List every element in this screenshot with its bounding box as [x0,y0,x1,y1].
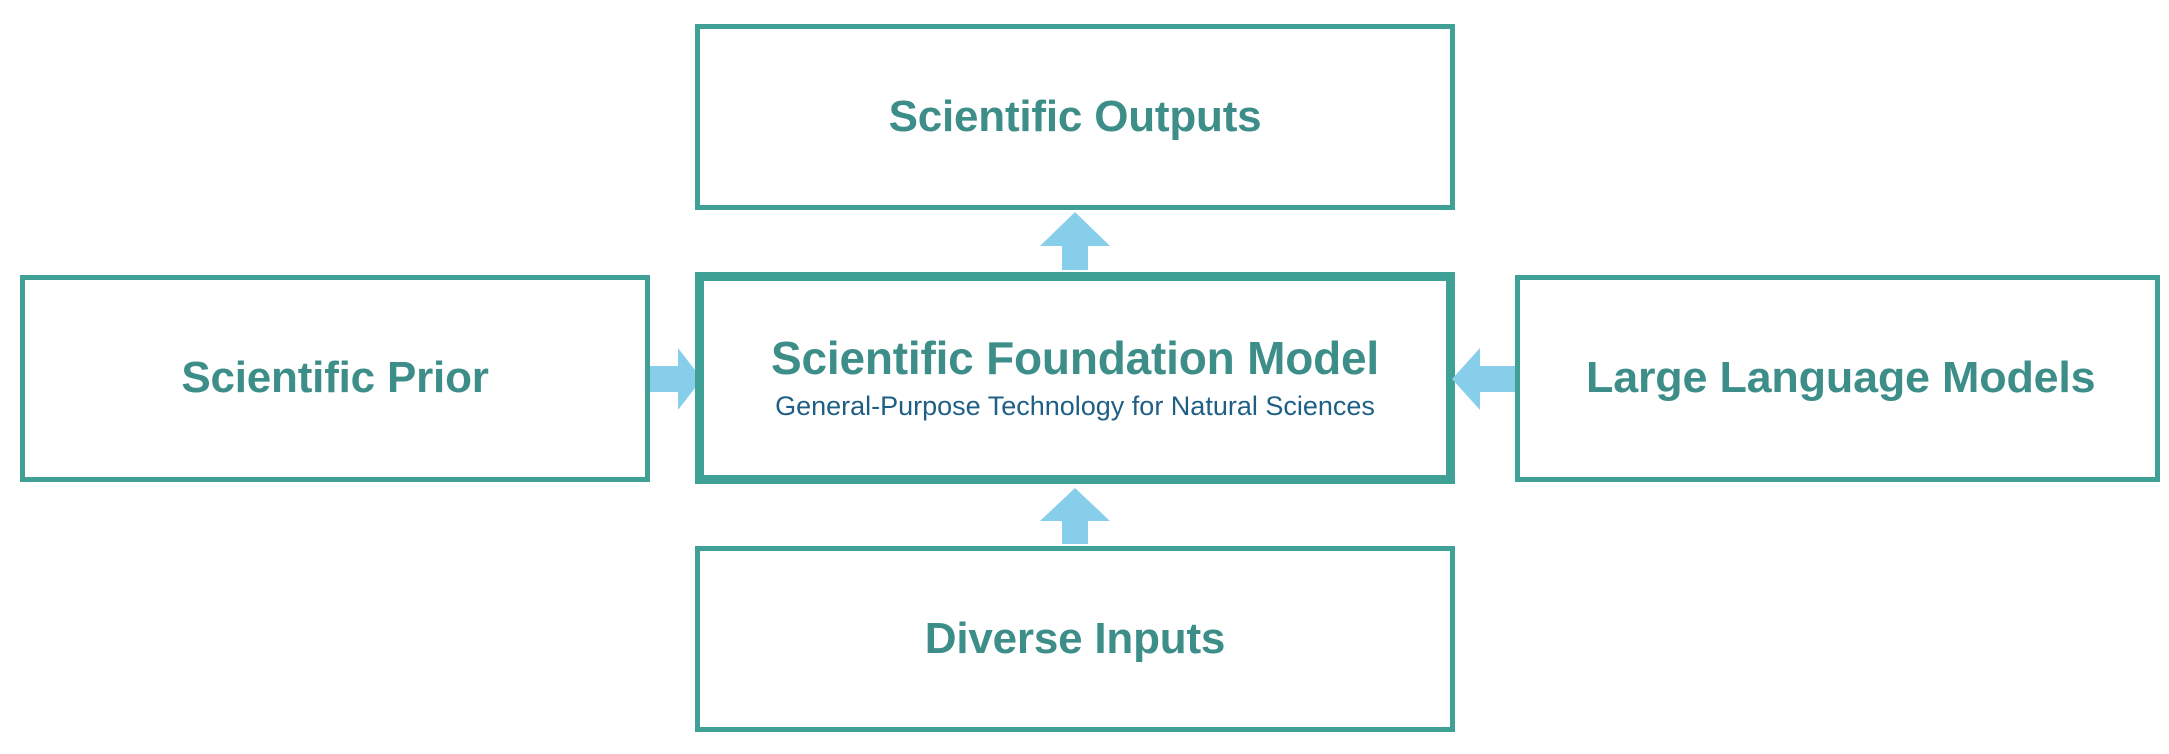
arrow-large-language-models-to-center-icon [1452,348,1518,410]
node-large-language-models[interactable]: Large Language Models [1515,275,2160,482]
node-scientific-foundation-model-label: Scientific Foundation Model [771,334,1379,382]
node-large-language-models-label: Large Language Models [1586,355,2095,401]
node-scientific-outputs[interactable]: Scientific Outputs [695,24,1455,210]
node-diverse-inputs-label: Diverse Inputs [925,616,1225,662]
node-scientific-foundation-model-subtitle: General-Purpose Technology for Natural S… [775,392,1375,422]
node-scientific-foundation-model[interactable]: Scientific Foundation Model General-Purp… [695,272,1455,484]
node-scientific-prior[interactable]: Scientific Prior [20,275,650,482]
node-scientific-outputs-label: Scientific Outputs [889,94,1262,140]
diagram-canvas: Scientific Outputs Scientific Prior Scie… [0,0,2169,754]
node-scientific-prior-label: Scientific Prior [181,355,488,401]
arrow-diverse-inputs-to-center-icon [1040,488,1110,544]
node-diverse-inputs[interactable]: Diverse Inputs [695,546,1455,732]
arrow-center-to-scientific-outputs-icon [1040,212,1110,270]
